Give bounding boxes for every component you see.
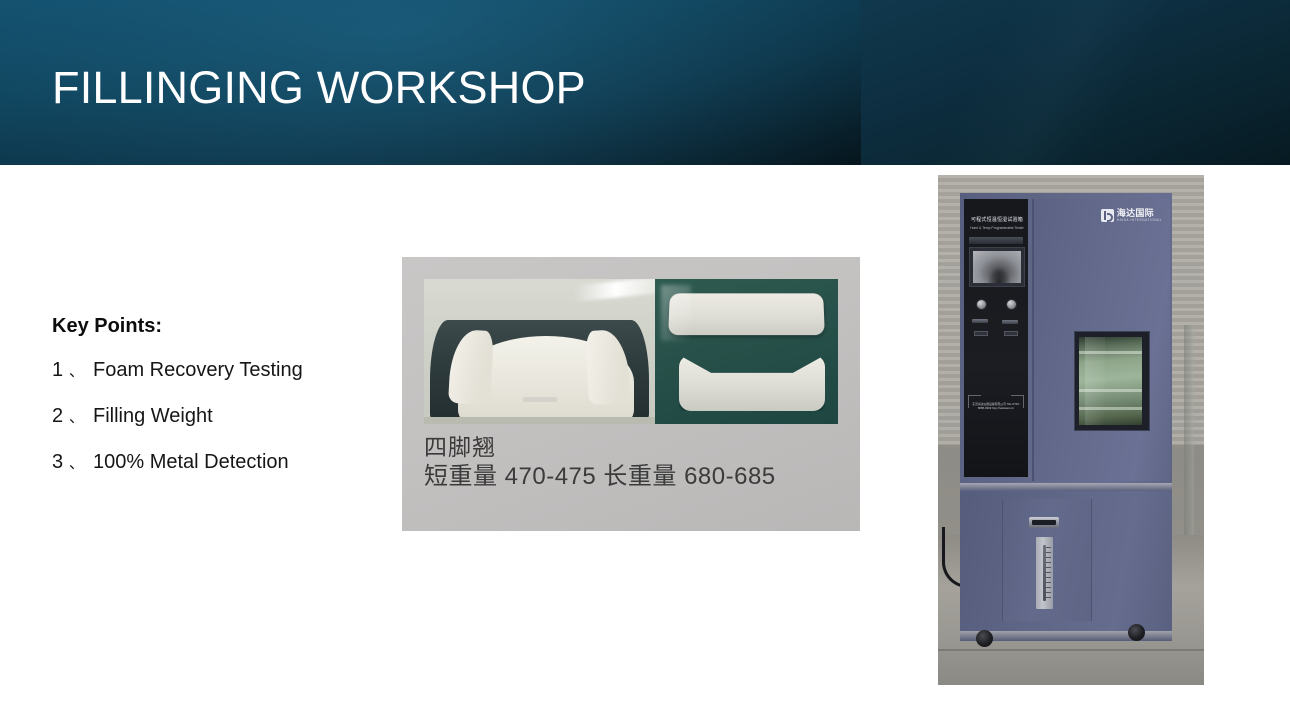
photo-glare	[574, 279, 655, 302]
key-points-block: Key Points: 1 、 Foam Recovery Testing 2 …	[52, 313, 392, 495]
background-post	[1184, 325, 1194, 535]
viewing-window-glass	[1079, 337, 1142, 425]
viewing-window-frame	[1074, 331, 1150, 431]
caster-wheel	[976, 630, 993, 647]
list-item-number: 2	[52, 403, 66, 429]
list-item-label: Foam Recovery Testing	[93, 357, 303, 383]
bed-rim-right	[585, 329, 631, 405]
bed-rim-left	[448, 329, 494, 405]
panel-badge-right	[1002, 320, 1018, 324]
indicator-left	[974, 331, 988, 336]
chamber-door[interactable]: 海达国际 HAIDA INTERNATIONAL	[1032, 199, 1170, 481]
sheet-caption-line2: 短重量 470-475 长重量 680-685	[424, 461, 844, 493]
brand-name-cn: 海达国际	[1117, 209, 1162, 218]
water-level-gauge	[1036, 537, 1053, 609]
control-panel-title-en: Humi & Temp Programmable Tester	[969, 226, 1025, 231]
sheet-caption-line1: 四脚翘	[424, 433, 844, 461]
list-item: 2 、 Filling Weight	[52, 403, 392, 431]
indicator-right	[1004, 331, 1018, 336]
panel-trim-strip	[969, 237, 1023, 244]
slide-title-banner: FILLINGING WORKSHOP	[0, 0, 1290, 165]
haida-logo-text: 海达国际 HAIDA INTERNATIONAL	[1117, 209, 1162, 222]
caster-wheel	[1128, 624, 1145, 641]
pet-bed-sheet-photo: 四脚翘 短重量 470-475 长重量 680-685	[402, 257, 860, 531]
foam-wrap-sheen	[661, 285, 691, 341]
chamber-upper-section: 可程式恒温恒湿试验箱 Humi & Temp Programmable Test…	[960, 193, 1172, 483]
lcd-screen[interactable]	[973, 251, 1021, 283]
power-on-button[interactable]	[976, 299, 987, 310]
sheet-image-row	[424, 279, 838, 424]
floor-seam-line	[938, 649, 1204, 651]
haida-logo-mark-icon	[1101, 209, 1114, 222]
list-item-number: 3	[52, 449, 66, 475]
window-reflection	[1085, 337, 1105, 425]
lcd-screen-frame	[969, 247, 1025, 287]
panel-badge-left	[972, 319, 988, 323]
list-item-label: 100% Metal Detection	[93, 449, 289, 475]
lcd-reflection	[987, 267, 1011, 283]
cabinet-top-edge	[960, 483, 1172, 491]
cabinet-door[interactable]	[1002, 499, 1092, 621]
list-item-number: 1	[52, 357, 66, 383]
brand-name-en: HAIDA INTERNATIONAL	[1117, 219, 1162, 222]
chamber-lower-cabinet	[960, 483, 1172, 641]
list-item-label: Filling Weight	[93, 403, 213, 429]
dog-bed-photo	[424, 279, 655, 424]
climate-test-chamber-photo: 可程式恒温恒湿试验箱 Humi & Temp Programmable Test…	[938, 175, 1204, 685]
banner-right-panel	[861, 0, 1290, 165]
chamber-body: 可程式恒温恒湿试验箱 Humi & Temp Programmable Test…	[960, 193, 1172, 641]
foam-insert-bottom	[679, 355, 825, 411]
foam-inserts-photo	[655, 279, 838, 424]
bed-floor-line	[424, 417, 655, 424]
bed-label-tag	[523, 397, 557, 402]
manufacturer-contact-text: 东莞海达仪器设备有限公司 TEL:0769-8888-9999 http://h…	[972, 402, 1020, 410]
sheet-caption: 四脚翘 短重量 470-475 长重量 680-685	[424, 433, 844, 493]
foam-insert-top	[668, 293, 825, 335]
list-item-separator: 、	[69, 405, 93, 431]
list-item-separator: 、	[69, 451, 93, 477]
list-item: 3 、 100% Metal Detection	[52, 449, 392, 477]
water-level-ticks	[1046, 547, 1051, 599]
water-level-tube	[1043, 545, 1046, 601]
haida-logo: 海达国际 HAIDA INTERNATIONAL	[1101, 209, 1162, 222]
cabinet-handle[interactable]	[1029, 517, 1059, 528]
page-title: FILLINGING WORKSHOP	[52, 62, 586, 114]
control-panel: 可程式恒温恒湿试验箱 Humi & Temp Programmable Test…	[964, 199, 1028, 477]
list-item-separator: 、	[69, 359, 93, 385]
power-off-button[interactable]	[1006, 299, 1017, 310]
list-item: 1 、 Foam Recovery Testing	[52, 357, 392, 385]
key-points-heading: Key Points:	[52, 313, 392, 339]
control-panel-title-cn: 可程式恒温恒湿试验箱	[969, 217, 1025, 224]
bed-outer-shell	[430, 320, 649, 424]
